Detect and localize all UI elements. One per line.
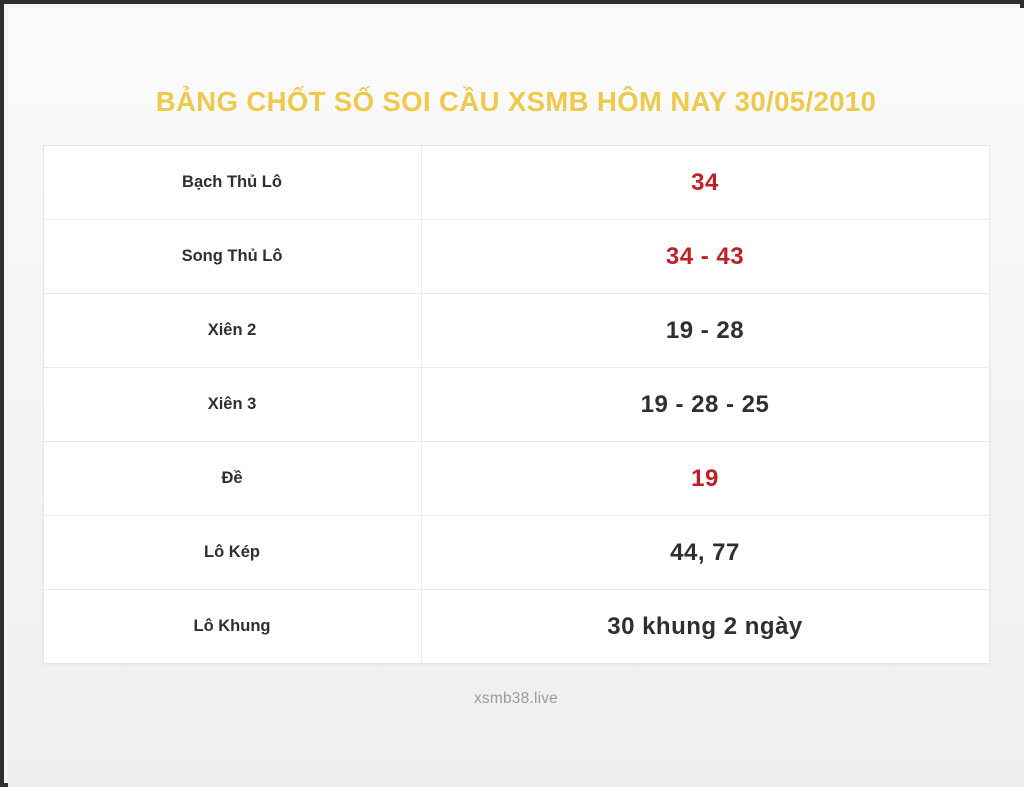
row-value: 44, 77: [422, 516, 989, 589]
row-value: 19 - 28 - 25: [422, 368, 989, 441]
prediction-table: Bạch Thủ Lô34Song Thủ Lô34 - 43Xiên 219 …: [43, 145, 990, 664]
row-value: 19: [422, 442, 989, 515]
page-title: BẢNG CHỐT SỐ SOI CẦU XSMB HÔM NAY 30/05/…: [156, 86, 877, 118]
table-row: Bạch Thủ Lô34: [44, 146, 989, 220]
row-value: 19 - 28: [422, 294, 989, 367]
row-label: Xiên 2: [44, 294, 422, 367]
row-value: 34: [422, 146, 989, 219]
row-value: 34 - 43: [422, 220, 989, 293]
table-row: Xiên 319 - 28 - 25: [44, 368, 989, 442]
site-watermark: xsmb38.live: [474, 690, 558, 708]
table-row: Song Thủ Lô34 - 43: [44, 220, 989, 294]
table-row: Lô Kép44, 77: [44, 516, 989, 590]
row-label: Lô Kép: [44, 516, 422, 589]
image-frame: BẢNG CHỐT SỐ SOI CẦU XSMB HÔM NAY 30/05/…: [0, 0, 1024, 787]
row-value: 30 khung 2 ngày: [422, 590, 989, 663]
row-label: Xiên 3: [44, 368, 422, 441]
row-label: Bạch Thủ Lô: [44, 146, 422, 219]
table-row: Xiên 219 - 28: [44, 294, 989, 368]
row-label: Đề: [44, 442, 422, 515]
page-canvas: BẢNG CHỐT SỐ SOI CẦU XSMB HÔM NAY 30/05/…: [8, 8, 1024, 787]
table-row: Lô Khung30 khung 2 ngày: [44, 590, 989, 663]
table-row: Đề19: [44, 442, 989, 516]
row-label: Song Thủ Lô: [44, 220, 422, 293]
row-label: Lô Khung: [44, 590, 422, 663]
